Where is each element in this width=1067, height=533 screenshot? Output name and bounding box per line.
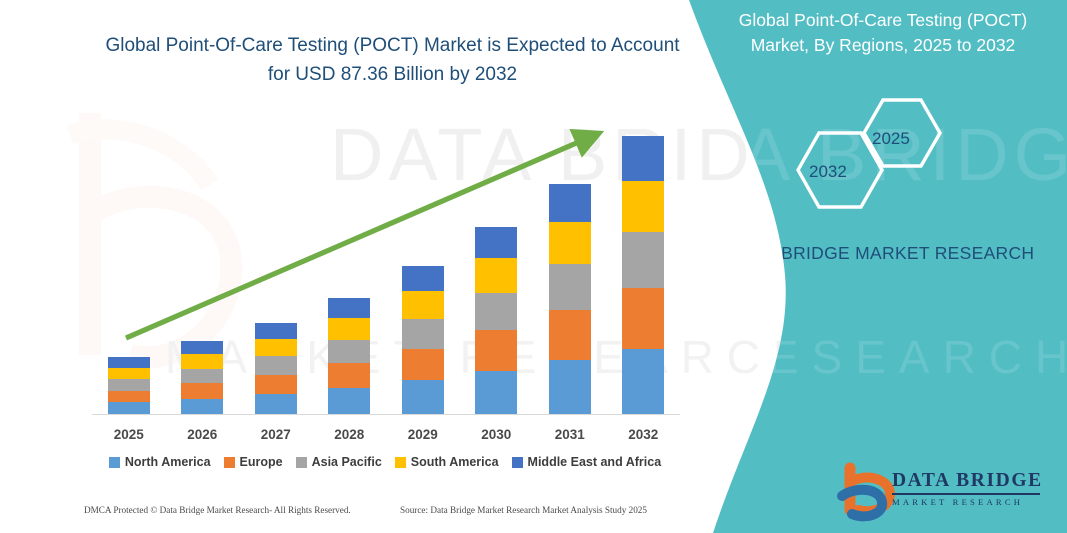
panel-brand-text: DATA BRIDGE MARKET RESEARCH: [713, 240, 1053, 266]
bar-segment-middle-east-and-africa: [108, 357, 150, 368]
x-axis-label-2025: 2025: [99, 427, 159, 442]
legend-label: Europe: [240, 455, 283, 469]
bar-segment-south-america: [622, 181, 664, 232]
x-axis-line: [92, 414, 680, 415]
bar-2029: [402, 266, 444, 414]
bar-segment-south-america: [328, 318, 370, 340]
bar-segment-south-america: [402, 291, 444, 319]
bar-segment-europe: [108, 391, 150, 403]
panel-title: Global Point-Of-Care Testing (POCT) Mark…: [713, 8, 1053, 59]
bar-segment-north-america: [402, 380, 444, 414]
bar-segment-europe: [622, 288, 664, 349]
footer-source: Source: Data Bridge Market Research Mark…: [400, 505, 647, 515]
infographic-root: DATA BRIDGE MARKET RESEARCH Global Point…: [0, 0, 1067, 533]
x-axis-labels: 20252026202720282029203020312032: [92, 423, 680, 445]
bar-group: [92, 120, 680, 414]
bar-segment-asia-pacific: [549, 264, 591, 310]
bar-2025: [108, 357, 150, 414]
bar-segment-north-america: [328, 388, 370, 414]
legend-label: South America: [411, 455, 499, 469]
bar-segment-middle-east-and-africa: [255, 323, 297, 339]
x-axis-label-2028: 2028: [319, 427, 379, 442]
bar-segment-south-america: [181, 354, 223, 368]
legend-swatch-icon: [224, 457, 235, 468]
x-axis-label-2027: 2027: [246, 427, 306, 442]
chart-legend: North AmericaEuropeAsia PacificSouth Ame…: [95, 455, 675, 469]
footer-copyright: DMCA Protected © Data Bridge Market Rese…: [84, 505, 351, 515]
bar-segment-europe: [475, 330, 517, 370]
bar-2027: [255, 323, 297, 414]
bar-segment-north-america: [622, 349, 664, 414]
bar-segment-middle-east-and-africa: [328, 298, 370, 318]
bar-segment-europe: [549, 310, 591, 360]
bar-segment-asia-pacific: [255, 356, 297, 374]
legend-label: Middle East and Africa: [528, 455, 662, 469]
bar-segment-north-america: [181, 399, 223, 414]
bar-segment-north-america: [255, 394, 297, 414]
bar-segment-north-america: [549, 360, 591, 414]
bar-2032: [622, 136, 664, 414]
bar-segment-middle-east-and-africa: [475, 227, 517, 258]
bar-segment-middle-east-and-africa: [549, 184, 591, 222]
panel-watermark-line-1: DATA BRIDGE: [667, 118, 1067, 192]
bar-segment-south-america: [255, 339, 297, 356]
bar-segment-south-america: [549, 222, 591, 264]
x-axis-label-2031: 2031: [540, 427, 600, 442]
bar-segment-europe: [402, 349, 444, 381]
legend-item-asia-pacific[interactable]: Asia Pacific: [296, 455, 382, 469]
legend-item-south-america[interactable]: South America: [395, 455, 499, 469]
bar-2026: [181, 341, 223, 414]
bar-segment-north-america: [475, 371, 517, 414]
x-axis-label-2030: 2030: [466, 427, 526, 442]
bar-segment-middle-east-and-africa: [622, 136, 664, 181]
legend-item-europe[interactable]: Europe: [224, 455, 283, 469]
legend-label: Asia Pacific: [312, 455, 382, 469]
bar-2028: [328, 298, 370, 414]
bar-segment-middle-east-and-africa: [181, 341, 223, 354]
bar-segment-south-america: [108, 368, 150, 380]
logo-main-text: DATA BRIDGE: [892, 470, 1043, 492]
x-axis-label-2029: 2029: [393, 427, 453, 442]
logo-sub-text: MARKET RESEARCH: [892, 497, 1043, 507]
bar-segment-asia-pacific: [181, 369, 223, 383]
hexagon-2032-label: 2032: [809, 162, 847, 182]
bar-segment-europe: [328, 363, 370, 388]
brand-logo: DATA BRIDGE MARKET RESEARCH: [832, 462, 1047, 522]
legend-label: North America: [125, 455, 211, 469]
bar-segment-south-america: [475, 258, 517, 293]
legend-swatch-icon: [109, 457, 120, 468]
bar-segment-asia-pacific: [475, 293, 517, 331]
right-teal-panel: DATA BRIDGE MARKET RESEARCH Global Point…: [667, 0, 1067, 533]
legend-swatch-icon: [296, 457, 307, 468]
bar-segment-asia-pacific: [622, 232, 664, 288]
x-axis-label-2026: 2026: [172, 427, 232, 442]
legend-swatch-icon: [395, 457, 406, 468]
hexagon-group: [667, 0, 1067, 533]
bar-2031: [549, 184, 591, 414]
bar-segment-asia-pacific: [402, 319, 444, 349]
footer: DMCA Protected © Data Bridge Market Rese…: [0, 505, 700, 525]
bar-segment-europe: [181, 383, 223, 398]
panel-watermark-line-2: MARKET RESEARCH: [667, 330, 1067, 384]
page-title: Global Point-Of-Care Testing (POCT) Mark…: [95, 32, 690, 90]
legend-swatch-icon: [512, 457, 523, 468]
legend-item-middle-east-and-africa[interactable]: Middle East and Africa: [512, 455, 662, 469]
x-axis-label-2032: 2032: [613, 427, 673, 442]
bar-segment-europe: [255, 375, 297, 394]
stacked-bar-chart: [72, 120, 692, 415]
bar-segment-north-america: [108, 402, 150, 414]
bar-segment-asia-pacific: [328, 340, 370, 363]
hexagon-2025-label: 2025: [872, 129, 910, 149]
legend-item-north-america[interactable]: North America: [109, 455, 211, 469]
bar-segment-middle-east-and-africa: [402, 266, 444, 291]
logo-text-block: DATA BRIDGE MARKET RESEARCH: [892, 470, 1043, 507]
bar-2030: [475, 227, 517, 414]
logo-divider: [892, 493, 1040, 495]
bar-segment-asia-pacific: [108, 379, 150, 391]
